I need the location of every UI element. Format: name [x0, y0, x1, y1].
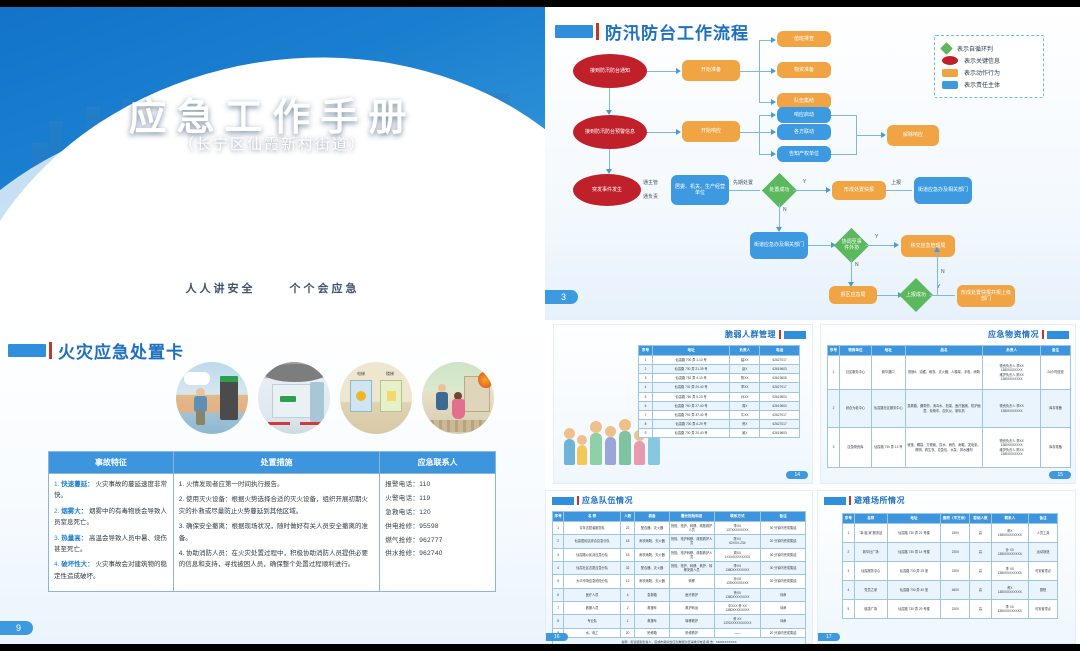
feature-number: 2. [54, 508, 59, 515]
table-row: 3应急物资库仙霞路 730 弄 13 号帐篷、睡袋、方便面、饮水、雨衣、雨鞋、发… [828, 428, 1071, 468]
flow-node-report-form: 形成处置快报 [832, 181, 886, 200]
panel-title-row: 应急物资情况 [988, 329, 1069, 340]
legend-row: 表示关键信息 [942, 56, 1036, 65]
cell: 仙霞服务中心 [854, 562, 887, 581]
flow-node-report-district: 报区应急局 [829, 286, 877, 304]
cell: 62627017 [760, 383, 800, 392]
cell: 62619603 [760, 401, 800, 410]
cell: 急救箱、绷带药、消毒水、担架、医疗器械、防护面罩、轮椅车、血氧仪、制氧机 [905, 390, 983, 428]
cell: 社区服务中心 [839, 356, 871, 390]
cell: 牛XX [730, 410, 760, 419]
cell: 可安置重点 [1029, 600, 1058, 619]
table-row: 9水、电工20抢修箱抢修救护——20 分钟内完成集结 [553, 628, 806, 637]
cell: 专业队 [564, 615, 621, 628]
cell: 物资负责人 李XX 1380XXXXXXX 维护负责人 陈XX 1380XXXX… [983, 428, 1041, 468]
cell: 高 [970, 524, 991, 543]
cell: 救援车 [635, 601, 670, 614]
cell: 高 [970, 581, 991, 600]
measure-item: 3. 确保安全撤离：根据现场状况，随时做好有关人员安全撤离的准备。 [179, 521, 374, 544]
cell: 15 [621, 548, 635, 561]
cell: 李 XX 1380XXXXXXXX [991, 600, 1028, 619]
table-header-row: 序号 名 称 人数 装备 擅长抢险科目 联系方式 备注 [553, 512, 806, 522]
panel-page-number: 15 [1049, 471, 1071, 479]
flow-node-duty-check: 值班排查 [777, 31, 831, 47]
fire-page-number: 9 [0, 621, 33, 635]
flow-node-joint-action: 各方联动 [777, 124, 831, 140]
cell: 李XX [730, 383, 760, 392]
cover-slide: 应急工作手册 （长宁区仙霞新村街道） 人人讲安全 个个会应急 [0, 0, 545, 320]
cell: 32 [621, 561, 635, 574]
panel-page-number: 14 [786, 471, 808, 479]
cell: 8 [639, 420, 653, 429]
flow-node-start-response: 开始响应 [682, 121, 740, 142]
cell: 配合器、灭火器 [635, 522, 670, 535]
panel-title: 脆弱人群管理 [725, 329, 776, 340]
cell: 物资负责人 李XX 1380XXXXXXX 维护负责人 陈XX 1380XXXX… [983, 356, 1041, 390]
cell: 抢修箱 [635, 628, 670, 637]
cell: 新华路口 [871, 356, 905, 390]
cell: 抢险、抢护、转移、疏散救护人员 [669, 522, 714, 535]
arrow-icon [676, 129, 681, 135]
slogan-right: 个个会应急 [290, 283, 360, 295]
slides-contact-sheet: 应急工作手册 （长宁区仙霞新村街道） 人人讲安全 个个会应急 防汛防台工作流程 … [0, 0, 1080, 651]
flow-node-notice: 接到防汛防台通知 [573, 54, 647, 88]
heading-tick-icon [49, 342, 52, 359]
edge-l1-m1 [877, 295, 899, 296]
edge-label-主管: 通主管 [643, 179, 658, 186]
feature-keyword: 破坏性大： [61, 561, 94, 568]
legend-label: 表示关键信息 [964, 56, 1000, 65]
cell: 7 [639, 410, 653, 419]
edge-j1-k1 [865, 245, 895, 246]
cell: 库存常备 [1041, 390, 1071, 428]
contact-value: 962777 [419, 537, 443, 544]
cell: 20 [621, 628, 635, 637]
contact-label: 急救电话： [385, 509, 419, 516]
cell: 9 [639, 429, 653, 438]
contact-item: 燃气抢修：962777 [385, 535, 490, 546]
cell: 赵X [730, 365, 760, 374]
flow-node-notify-owner: 告知产权单位 [777, 146, 831, 162]
cell: 抢险、抢护转移、疏散救护人员 [669, 535, 714, 548]
contact-item: 急救电话：120 [385, 507, 490, 518]
th-contact: 联系方式 [714, 512, 761, 522]
cell: 抢险、抢护转移、疏散救护人员 [669, 548, 714, 561]
cell: 仙霞路 730 弄 25 室 [887, 562, 941, 581]
cell: 62619603 [760, 392, 800, 401]
cell: 医疗人员 [564, 588, 621, 601]
th-contact: 联系人 [991, 514, 1028, 524]
th-seq: 序号 [843, 514, 855, 524]
flow-node-units: 居委、机关、生产经营单位 [671, 175, 729, 205]
cell: 仙霞路 730 弄 21-39 号 [652, 365, 729, 374]
th-name: 名称 [854, 514, 887, 524]
measure-item: 2. 使用灭火设备：根据火势选择合适的灭火设备，组织开展初期火灾的扑救或尽量防止… [179, 494, 374, 517]
cell: 医疗救护 [669, 588, 714, 601]
table-header-row: 序号 物资单位 地址 品名 负责人 备注 [828, 346, 1071, 356]
edge-n2-a2 [647, 132, 679, 133]
flow-node-street-office: 街道应急办及相关部门 [914, 177, 972, 204]
cell: 8 [553, 615, 564, 628]
cell: 5 [639, 392, 653, 401]
col-measures: 处置措施 [173, 452, 379, 474]
cell: "幸 福 家"服务站 [854, 524, 887, 543]
cover-slogan: 人人讲安全 个个会应急 [0, 280, 545, 296]
table-row: 4党员之家仙霞路 730 弄 40 室4600高黄X 1380XXXXXXXX剧… [843, 581, 1058, 600]
cell: 仙霞路 730 弄 14 号楼 [887, 543, 941, 562]
arrow-icon [771, 68, 776, 74]
th-seq: 序号 [828, 346, 840, 356]
decision-label: 处置成功 [769, 187, 789, 193]
flow-legend: 表示自循环判 表示关键信息 表示动作行为 表示责任主体 [934, 35, 1044, 98]
cell: 物资负责人 李XX 1380XXXXXXX [983, 390, 1041, 428]
cell: 黄X [730, 420, 760, 429]
cell: 仙霞路 730 弄 22 号楼 [887, 524, 941, 543]
cell-features: 1. 快速蔓延： 火灾事故的蔓延速度非常快。 2. 烟雾大： 烟雾中的有毒物质会… [49, 474, 174, 592]
table-row: 4仙霞路 732 弄 20-40 号李XX62627017 [639, 383, 800, 392]
arrow-icon [881, 132, 886, 138]
table-row: 1仙霞路 700 弄 1-13 号建XX62627017 [639, 356, 800, 365]
measure-item: 4. 协助消防人员：在火灾处置过程中，积极协助消防人员提供必要的信息和支持，寻找… [179, 548, 374, 571]
flowchart-slide: 防汛防台工作流程 接到防汛防台通知 开始准备 值班排查 物资准备 队伍集结 接到… [545, 0, 1080, 320]
table-header-row: 序号 地址 负责人 电话 [639, 346, 800, 356]
cell: 水、电工 [564, 628, 621, 637]
cell: 运动场馆 [1029, 543, 1058, 562]
cell: 62627017 [760, 410, 800, 419]
edge-label-Y: Y [803, 179, 806, 185]
edge-m1-n4 [929, 295, 955, 296]
edge-merge-out [856, 135, 882, 136]
th-remark: 备注 [1041, 346, 1071, 356]
cell: 抢险、抢护、转移、救护、转移安置人员 [669, 561, 714, 574]
cell: 急救箱 [635, 588, 670, 601]
cell: 救援人员 [564, 601, 621, 614]
flow-top-letterbox [545, 0, 1080, 7]
arrow-icon [771, 112, 776, 118]
contact-label: 供水抢修： [385, 550, 419, 557]
contact-label: 报警电话： [385, 481, 419, 488]
table-row: 1. 快速蔓延： 火灾事故的蔓延速度非常快。 2. 烟雾大： 烟雾中的有毒物质会… [49, 474, 496, 592]
exit-guidance-illustration [176, 362, 248, 434]
panel-vulnerable-population: 脆弱人群管理 序号 [553, 324, 813, 484]
cell: 20 分钟内完成集结 [761, 628, 806, 637]
cell: 30 分钟内完成集结 [761, 561, 806, 574]
cell: 黄XX 1380XXXXXXXX [714, 588, 761, 601]
th-capacity: 容纳人数 [970, 514, 991, 524]
legend-label: 表示责任主体 [964, 80, 1000, 89]
feature-number: 1. [54, 481, 59, 488]
cell-contacts: 报警电话：110 火警电话：119 急救电话：120 供电抢修：95598 燃气… [380, 474, 496, 592]
cell: 6 [639, 401, 653, 410]
cell: 待命 [761, 588, 806, 601]
cell: 黄X 1380XXXXXXXX [991, 524, 1028, 543]
feature-number: 3. [54, 535, 59, 542]
heading-bar-icon [824, 497, 846, 505]
cell: 24小时值班 [1041, 356, 1071, 390]
cell: 4 [553, 561, 564, 574]
cell: 大众市场应急抢险分队 [564, 575, 621, 588]
cell: 2 [553, 535, 564, 548]
evacuation-illustration [422, 362, 494, 434]
edge-i1-j1 [808, 245, 832, 246]
diamond-icon [940, 42, 953, 55]
cell: 1500 [941, 524, 970, 543]
fire-heading-text: 火灾应急处置卡 [58, 338, 184, 363]
table-row: 1"幸 福 家"服务站仙霞路 730 弄 22 号楼1500高黄X 1380XX… [843, 524, 1058, 543]
cell: 1 [828, 356, 840, 390]
cell: 2200 [941, 600, 970, 619]
table-row: 5仙霞路 750 弄 5-23 号孙XX62619603 [639, 392, 800, 401]
flow-node-end-response: 解除响应 [887, 125, 939, 146]
col-features: 事故特征 [49, 452, 174, 474]
contact-value: 110 [419, 481, 430, 488]
cell: 高 [970, 562, 991, 581]
cell: 4 [843, 581, 855, 600]
cell: 黄 XX 1376XXXXXXXXXX [714, 615, 761, 628]
heading-bar-icon [552, 497, 574, 505]
contact-label: 供电抢修： [385, 523, 419, 530]
cell: 李 XX 1380XXXXXXXX [991, 562, 1028, 581]
edge-fan-2 [759, 115, 760, 155]
tables-slide: 脆弱人群管理 序号 [545, 320, 1080, 651]
panel-title: 避难场所情况 [854, 495, 905, 506]
table-header-row: 序号 名称 地址 面积（平方米） 容纳人数 联系人 备注 [843, 514, 1058, 524]
edge-n2-n3 [609, 149, 610, 171]
cell: 62619605 [760, 374, 800, 383]
panel-emergency-supplies: 应急物资情况 序号 物资单位 地址 品名 负责人 备注 1社区服务中心新华路口铁… [820, 324, 1076, 484]
table-row: 2综合为老中心仙霞路社区服务中心急救箱、绷带药、消毒水、担架、医疗器械、防护面罩… [828, 390, 1071, 428]
cell: 2 [621, 601, 635, 614]
edge-n1-a1 [647, 71, 679, 72]
cell: 30 分钟内完成集结 [761, 575, 806, 588]
decision-label: 上报成功 [906, 292, 926, 298]
feature-item: 2. 烟雾大： 烟雾中的有毒物质会导致人员窒息死亡。 [54, 506, 168, 529]
cell: 20 分钟内完成集结 [761, 535, 806, 548]
th-name: 名 称 [564, 512, 621, 522]
cell: 仙霞居民区综合应急分队 [564, 535, 621, 548]
cell: 仙霞路 752 弄 4-13 号 [652, 374, 729, 383]
cell: 综合为老中心 [839, 390, 871, 428]
cell: 建XX [730, 356, 760, 365]
elevator-vs-stairs-illustration: 电梯 楼梯 [340, 362, 412, 434]
cell: 仙霞社区志愿应急分队 [564, 561, 621, 574]
heading-tick-icon [779, 330, 781, 339]
cell: 剧院 [1029, 581, 1058, 600]
edge-label-N: N [783, 207, 787, 213]
heading-tick-icon [577, 496, 579, 505]
cell: 仙霞路公民兵应急分队 [564, 548, 621, 561]
edge-label-Y: Y [875, 234, 878, 240]
cell: 孙XX [730, 392, 760, 401]
cell: 1 [621, 615, 635, 628]
table-row: 1社区服务中心新华路口铁锹4、油锯、雨衣、灭火器、人梯架、手电、雨靴物资负责人 … [828, 356, 1071, 390]
cell: 人员工具 [1029, 524, 1058, 543]
contact-label: 燃气抢修： [385, 537, 419, 544]
edge-label-N: N [941, 269, 945, 275]
emergency-teams-table: 序号 名 称 人数 装备 擅长抢险科目 联系方式 备注 1青年志愿者服务队22配… [552, 511, 806, 649]
cell: 5 [843, 600, 855, 619]
cell: 3 [843, 562, 855, 581]
arrow-icon [771, 129, 776, 135]
cell: 62627017 [760, 356, 800, 365]
feature-item: 3. 热量高： 高温会导致人员中暑、烧伤甚至死亡。 [54, 533, 168, 556]
flow-node-supplies: 物资准备 [777, 62, 831, 78]
cell: 吴X [730, 429, 760, 438]
cell: 帐篷、睡袋、方便面、饮水、雨衣、雨鞋、发电机、照明、救生衣、应急包、水泵、排水器… [905, 428, 983, 468]
edge-label-N: N [855, 262, 859, 268]
flow-node-transfer: 移交应急管理局 [901, 235, 955, 257]
orange-box-icon [942, 69, 958, 77]
table-row: 6仙霞路 750 弄 27-40 号周X62619603 [639, 401, 800, 410]
cell: 新华社广场 [854, 543, 887, 562]
edge-a1-fan [740, 71, 760, 72]
cell: 陈XX [730, 374, 760, 383]
table-row: 2新华社广场仙霞路 730 弄 14 号楼2200高孙 XX 1380XXXXX… [843, 543, 1058, 562]
cell: 30 分钟内完成集结 [761, 548, 806, 561]
heading-bar-icon [8, 344, 46, 357]
cover-subtitle: （长宁区仙霞新村街道） [0, 133, 545, 154]
cell: 配合器、灭火器 [635, 561, 670, 574]
cell: 周XX 1XXXXXXXXXXX [714, 548, 761, 561]
cell: 铁锹4、油锯、雨衣、灭火器、人梯架、手电、雨靴 [905, 356, 983, 390]
tables-bottom-letterbox [545, 644, 1080, 651]
contact-label: 火警电话： [385, 495, 419, 502]
ellipse-icon [942, 56, 958, 65]
arrow-icon [826, 187, 831, 193]
table-row: 1青年志愿者服务队22配合器、灭火器抢险、抢护、转移、疏散救护人员李XX 137… [553, 522, 806, 535]
cell: 救护转运 [669, 601, 714, 614]
cell: 12 [621, 575, 635, 588]
edge-merge-b [831, 154, 857, 155]
contact-item: 报警电话：110 [385, 479, 490, 490]
cell: 中XXX 黄 XX 1380XXXXXXXX [714, 601, 761, 614]
feature-item: 1. 快速蔓延： 火灾事故的蔓延速度非常快。 [54, 479, 168, 502]
cell: 2 [639, 365, 653, 374]
cell: 救援车 [635, 615, 670, 628]
edge-m1-up [937, 250, 938, 295]
vulnerable-population-table: 序号 地址 负责人 电话 1仙霞路 700 弄 1-13 号建XX6262701… [638, 345, 800, 438]
flow-node-final-report: 形成处置快报并报上级部门 [957, 285, 1015, 307]
col-contacts: 应急联系人 [380, 452, 496, 474]
edge-label-先期处置: 先期处置 [733, 179, 753, 186]
cell: 李XX 1380XXXXXXXX [714, 561, 761, 574]
cell: 陈XX 62XXX-234 [714, 535, 761, 548]
table-row: 5大众市场应急抢险分队12雨衣雨靴、灭火器转移孙XX 139XXXXXXXX30… [553, 575, 806, 588]
cell: 雨衣雨靴、灭火器 [635, 535, 670, 548]
cell: —— [714, 628, 761, 637]
heading-bar-icon [784, 331, 806, 339]
feature-number: 4. [54, 561, 59, 568]
cell: 1 [639, 356, 653, 365]
edge-g1-h1 [886, 190, 912, 191]
th-skills: 擅长抢险科目 [669, 512, 714, 522]
table-row: 3仙霞服务中心仙霞路 730 弄 25 室2200高李 XX 1380XXXXX… [843, 562, 1058, 581]
cell: 仙霞路 700 弄 6-29 号 [652, 420, 729, 429]
edge-a2-fan [740, 132, 760, 133]
cell: 4 [621, 588, 635, 601]
cell: 仙霞路 730 弄 40 室 [887, 581, 941, 600]
th-owner: 负责人 [983, 346, 1041, 356]
measure-item: 1. 火情发现者应第一时间执行报告。 [179, 479, 374, 490]
th-items: 品名 [905, 346, 983, 356]
cell: 雨衣雨靴、灭火器 [635, 548, 670, 561]
cell: 仙霞路 730 弄 13 号 [871, 428, 905, 468]
table-row: 8仙霞路 700 弄 6-29 号黄X62627017 [639, 420, 800, 429]
legend-row: 表示责任主体 [942, 80, 1036, 89]
th-address: 地址 [871, 346, 905, 356]
table-row: 2仙霞居民区综合应急分队18雨衣雨靴、灭火器抢险、抢护转移、疏散救护人员陈XX … [553, 535, 806, 548]
table-row: 8专业队1救援车转移救护黄 XX 1376XXXXXXXXXX待命 [553, 615, 806, 628]
table-row: 4仙霞社区志愿应急分队32配合器、灭火器抢险、抢护、转移、救护、转移安置人员李X… [553, 561, 806, 574]
edge-f1-g1 [793, 190, 827, 191]
feature-item: 4. 破坏性大： 火灾事故会对建筑物的稳定性造成破坏。 [54, 559, 168, 582]
cell: 2 [843, 543, 855, 562]
cell: 黄X 1380XXXXXXXX [991, 581, 1028, 600]
panel-title-row: 避难场所情况 [824, 495, 905, 506]
table-row: 3仙霞路 752 弄 4-13 号陈XX62619605 [639, 374, 800, 383]
cell: 2200 [941, 562, 970, 581]
panel-title-row: 应急队伍情况 [552, 495, 633, 506]
contact-item: 供电抢修：95598 [385, 521, 490, 532]
cell: 仙霞路 730 弄 29 号楼 [887, 600, 941, 619]
flow-decision-report-ok: 上报成功 [899, 278, 933, 312]
th-address: 地址 [652, 346, 729, 356]
cell: 3 [828, 428, 840, 468]
flow-node-response-start: 响应启动 [777, 107, 831, 123]
cell: 3 [639, 374, 653, 383]
arrow-icon [771, 99, 776, 105]
cell: 仙霞路 732 弄 20-40 号 [652, 383, 729, 392]
th-remark: 备注 [761, 512, 806, 522]
panel-title: 应急队伍情况 [582, 495, 633, 506]
table-row: 9仙霞路 730 弄 20-40 号吴X62619603 [639, 429, 800, 438]
feature-keyword: 快速蔓延： [61, 481, 94, 488]
table-row: 6医疗人员4急救箱医疗救护黄XX 1380XXXXXXXX待命 [553, 588, 806, 601]
edge-label-负责: 通负责 [643, 193, 658, 200]
cell: 库存常备 [1041, 428, 1071, 468]
fire-card-slide: 火灾应急处置卡 电梯 楼 [0, 320, 545, 651]
th-address: 地址 [887, 514, 941, 524]
heading-tick-icon [596, 23, 599, 40]
fire-bottom-letterbox [0, 644, 545, 651]
heading-tick-icon [1042, 330, 1044, 339]
th-count: 人数 [621, 512, 635, 522]
edge-j1-down [851, 258, 852, 284]
contact-value: 95598 [419, 523, 439, 530]
emergency-supplies-table: 序号 物资单位 地址 品名 负责人 备注 1社区服务中心新华路口铁锹4、油锯、雨… [827, 345, 1071, 468]
th-phone: 电话 [760, 346, 800, 356]
cell: 转移 [669, 575, 714, 588]
cell: 30 分钟内完成集结 [761, 522, 806, 535]
cell: 22 [621, 522, 635, 535]
th-seq: 序号 [639, 346, 653, 356]
cell: 党员之家 [854, 581, 887, 600]
blue-box-icon [942, 81, 958, 89]
flow-canvas: 防汛防台工作流程 接到防汛防台通知 开始准备 值班排查 物资准备 队伍集结 接到… [545, 7, 1080, 320]
table-row: 3仙霞路公民兵应急分队15雨衣雨靴、灭火器抢险、抢护转移、疏散救护人员周XX 1… [553, 548, 806, 561]
cell: 1 [553, 522, 564, 535]
heading-bar-icon [1047, 331, 1069, 339]
table-row: 2仙霞路 730 弄 21-39 号赵X62619603 [639, 365, 800, 374]
panel-page-number: 17 [818, 633, 840, 641]
table-row: 7仙霞路 792 弄 37-40 号牛XX62627017 [639, 410, 800, 419]
flow-node-incident: 突发事件发生 [573, 174, 641, 206]
th-unit: 物资单位 [839, 346, 871, 356]
fire-illustration-row: 电梯 楼梯 [176, 362, 494, 434]
heading-tick-icon [849, 496, 851, 505]
fire-response-table: 事故特征 处置措施 应急联系人 1. 快速蔓延： 火灾事故的蔓延速度非常快。 2… [48, 451, 496, 592]
cell: 18 [621, 535, 635, 548]
